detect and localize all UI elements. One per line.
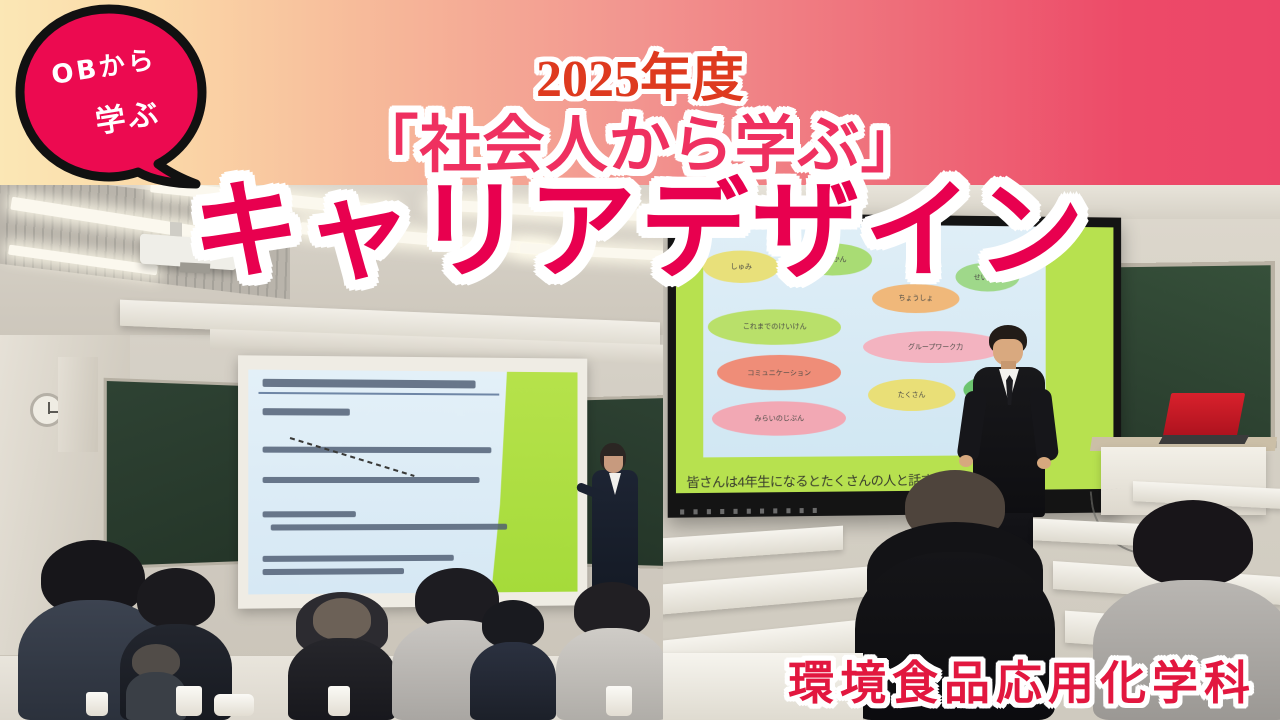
- slide-text-line: [263, 379, 476, 389]
- slide-oval: たくさん: [868, 379, 955, 411]
- seated-student: [1093, 500, 1280, 720]
- student-torso: [470, 642, 556, 720]
- desk-cup: [176, 686, 202, 716]
- slide-green-band: [491, 372, 577, 593]
- desk-cup: [86, 692, 108, 716]
- slide-oval: しゅみ: [703, 250, 779, 283]
- slide-oval: ちょうしょ: [872, 283, 959, 313]
- wall-pillar: [58, 357, 98, 452]
- projector-mount: [180, 262, 210, 274]
- slide-text-line: [263, 408, 350, 416]
- presenter-face: [604, 456, 623, 473]
- slide-text-line: [263, 568, 404, 575]
- seated-student: [470, 600, 556, 720]
- slide-oval: かちかん: [793, 243, 873, 276]
- slide-oval: これまでのけいけん: [708, 309, 842, 344]
- photo-presenter-in-suit: しゅみかちかんせいかくちょうしょこれまでのけいけんグループワーク力コミュニケーシ…: [663, 185, 1280, 720]
- photo-lecture-room-audience: [0, 185, 663, 720]
- slide-text-line: [263, 447, 492, 454]
- speech-bubble-text: OBから 学ぶ: [8, 0, 214, 189]
- desk-cup: [606, 686, 632, 716]
- slide-text-line: [263, 477, 480, 483]
- classroom-desk: [663, 653, 863, 720]
- desk-cup: [214, 694, 254, 716]
- student-hair: [137, 568, 215, 628]
- slide-text-line: [263, 555, 454, 562]
- presenter-left-photo: [592, 443, 638, 593]
- student-hair: [313, 598, 371, 640]
- student-hair: [1133, 500, 1253, 586]
- slide-content: [248, 370, 577, 595]
- red-laptop: [1161, 393, 1243, 445]
- screen-speaker-grille: [680, 508, 823, 515]
- student-torso: [855, 552, 1055, 720]
- student-torso: [1093, 580, 1280, 720]
- bubble-line-2: 学ぶ: [92, 87, 164, 141]
- speech-bubble-badge: OBから 学ぶ: [20, 8, 202, 176]
- presenter-hand-left: [959, 455, 973, 467]
- desk-cup: [328, 686, 350, 716]
- slide-oval: コミュニケーション: [717, 355, 842, 390]
- laptop-lid: [1163, 393, 1246, 437]
- slide-text-line: [263, 511, 356, 517]
- seated-student: [855, 470, 1055, 720]
- bubble-line-1: OBから: [48, 38, 158, 91]
- photo-band: しゅみかちかんせいかくちょうしょこれまでのけいけんグループワーク力コミュニケーシ…: [0, 185, 1280, 720]
- slide-text-line: [271, 524, 507, 531]
- student-hair: [482, 600, 544, 648]
- poster-canvas: しゅみかちかんせいかくちょうしょこれまでのけいけんグループワーク力コミュニケーシ…: [0, 0, 1280, 720]
- presenter-hand-right: [1037, 457, 1051, 469]
- laptop-base: [1159, 435, 1250, 444]
